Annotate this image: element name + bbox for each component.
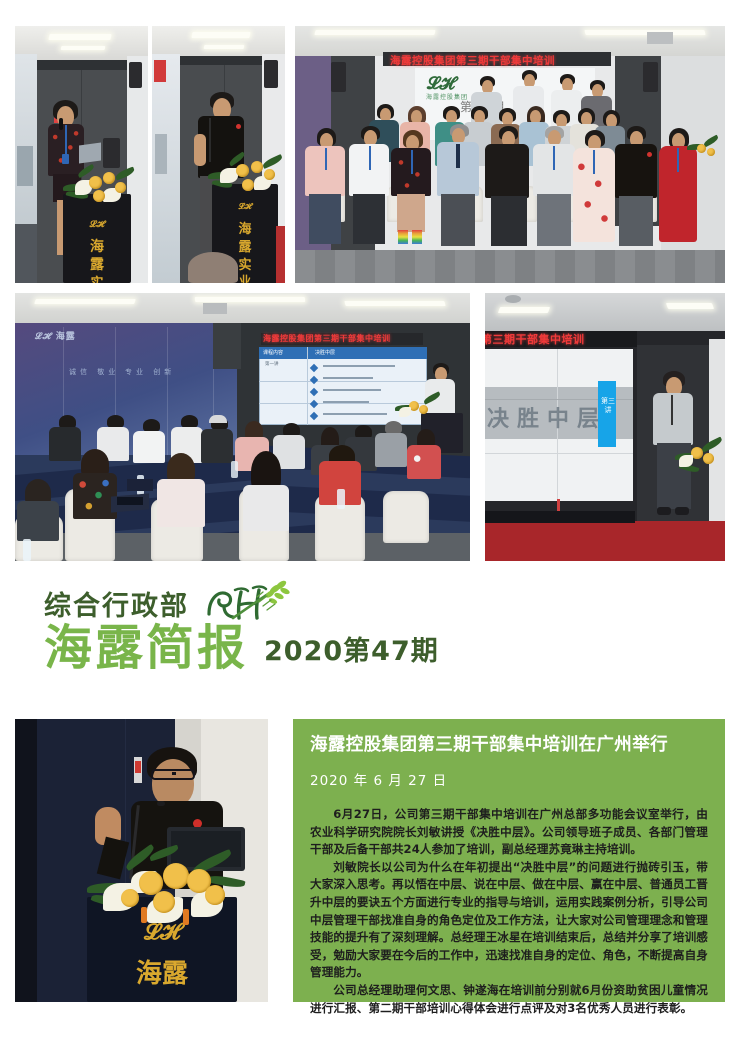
lecturer-screen-tab: 第三讲 [601,397,615,415]
article-paragraph: 6月27日，公司第三期干部集中培训在广州总部多功能会议室举行，由农业科学研究院院… [310,806,708,859]
group-photo-banner: 海露控股集团第三期干部集中培训 [390,53,555,68]
photo-speaker-woman: 𝓛𝓗 海 露 实 [15,26,148,283]
newsletter-page: 𝓛𝓗 海 露 实 [0,0,740,1047]
photo-group: 海露控股集团第三期干部集中培训 𝓛𝓗 海露控股集团 第三期 [295,26,725,283]
photo-classroom: 𝓛𝓗 海露 诚信 敬业 专业 创新 海露控股集团第三期干部集中培训 课程内容 决… [15,293,470,561]
podium-text: 海露 [87,953,237,990]
article-paragraph: 公司总经理助理何文思、钟遂海在培训前分别就6月份资助贫困儿童情况进行汇报、第二期… [310,982,708,1017]
lecturer-screen-title: 决胜中层 [487,401,607,433]
lecturer-banner: 第三期干部集中培训 [485,331,585,347]
photo-podium-speaker: 𝓛𝓗 海露 [15,719,268,1002]
masthead-title-line: 海露简报 2020第47期 [44,624,439,672]
classroom-banner: 海露控股集团第三期干部集中培训 [263,333,391,344]
department-name: 综合行政部 [44,584,189,623]
article-title: 海露控股集团第三期干部集中培训在广州举行 [310,735,708,756]
article-body: 6月27日，公司第三期干部集中培训在广州总部多功能会议室举行，由农业科学研究院院… [310,806,708,1017]
article-paragraph: 刘敏院长以公司为什么在年初提出“决胜中层”的问题进行抛砖引玉，带大家深入思考。再… [310,859,708,982]
masthead: 综合行政部 [0,568,740,703]
issue-number: 2020第47期 [264,629,439,672]
photo-lecturer-screen: 第三期干部集中培训 决胜中层 第三讲 [485,293,725,561]
article-date: 2020 年 6 月 27 日 [310,769,708,789]
article-panel: 海露控股集团第三期干部集中培训在广州举行 2020 年 6 月 27 日 6月2… [293,719,725,1002]
photo-speaker-man: 𝓛𝓗 海 露 实 业 [152,26,285,283]
newsletter-title: 海露简报 [44,624,248,672]
